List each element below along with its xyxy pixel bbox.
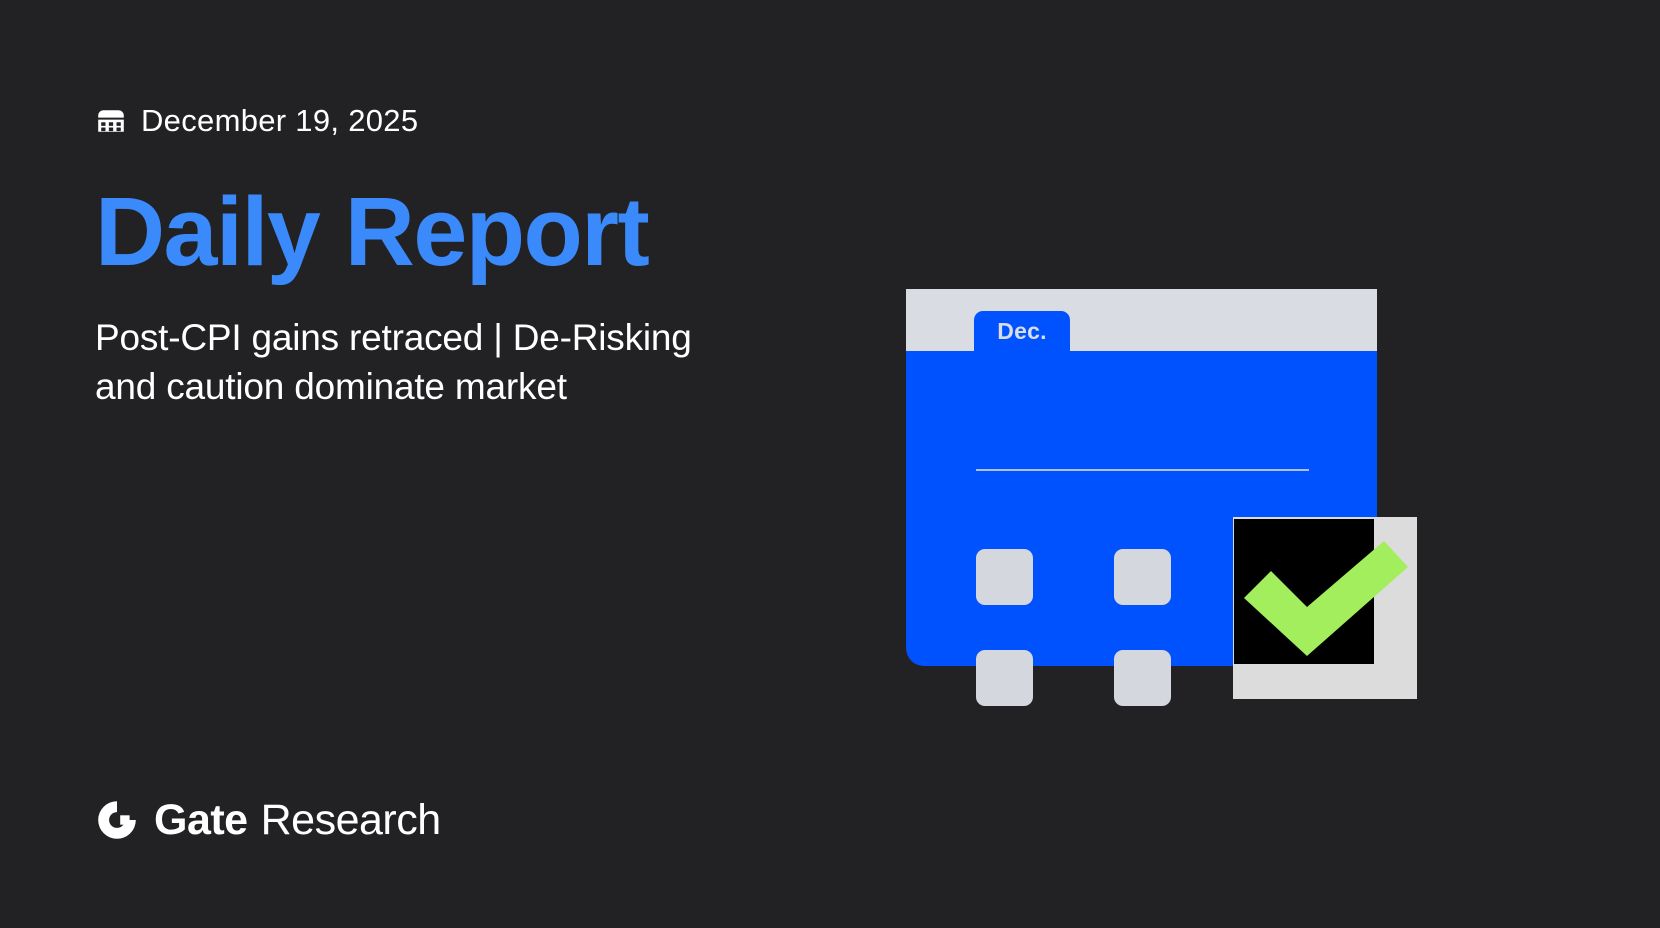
calendar-day-cell <box>1114 650 1171 706</box>
calendar-day-cell <box>1114 549 1171 605</box>
product-name: Research <box>261 796 441 844</box>
subtitle-line-2: and caution dominate market <box>95 362 815 411</box>
calendar-check-illustration: Dec. <box>906 289 1418 709</box>
gate-logo-mark-icon <box>95 798 139 842</box>
brand-wordmark: GateResearch <box>154 799 441 842</box>
report-date: December 19, 2025 <box>141 103 418 139</box>
page-subtitle: Post-CPI gains retraced | De-Risking and… <box>95 313 815 411</box>
calendar-month-label: Dec. <box>997 320 1046 343</box>
calendar-day-cell <box>976 650 1033 706</box>
headline-block: December 19, 2025 Daily Report Post-CPI … <box>95 98 895 411</box>
date-row: December 19, 2025 <box>95 98 895 144</box>
brand-logo: GateResearch <box>95 798 441 842</box>
calendar-day-cell <box>976 549 1033 605</box>
brand-name: Gate <box>154 796 248 844</box>
daily-report-poster: December 19, 2025 Daily Report Post-CPI … <box>0 0 1660 928</box>
subtitle-line-1: Post-CPI gains retraced | De-Risking <box>95 313 815 362</box>
page-title: Daily Report <box>95 182 895 283</box>
calendar-divider <box>976 469 1309 471</box>
calendar-month-tab: Dec. <box>974 311 1070 351</box>
calendar-icon <box>95 105 127 137</box>
